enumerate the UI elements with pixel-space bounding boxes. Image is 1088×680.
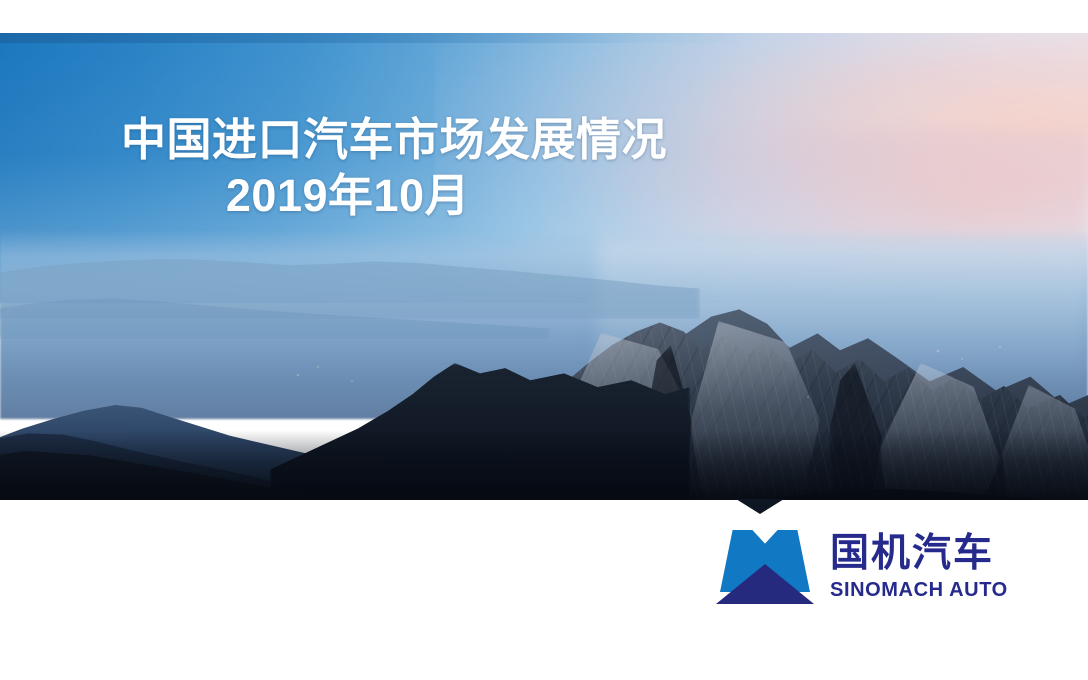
logo-name-en: SINOMACH AUTO (830, 578, 1008, 602)
hero-photo-band (0, 33, 1088, 500)
logo-name-cn: 国机汽车 (830, 532, 1008, 576)
footer-bar: 国机汽车 SINOMACH AUTO (0, 500, 1088, 680)
mountain-summit-photo (0, 33, 1088, 500)
sky-top-band (0, 33, 760, 43)
logo-wordmark: 国机汽车 SINOMACH AUTO (830, 532, 1008, 602)
mountain-mark-icon (716, 530, 814, 604)
title-slide: 中国进口汽车市场发展情况 2019年10月 国机汽车 SINOMACH AUTO (0, 0, 1088, 680)
sinomach-auto-logo: 国机汽车 SINOMACH AUTO (716, 530, 1008, 604)
distant-city-lights (0, 333, 1088, 423)
